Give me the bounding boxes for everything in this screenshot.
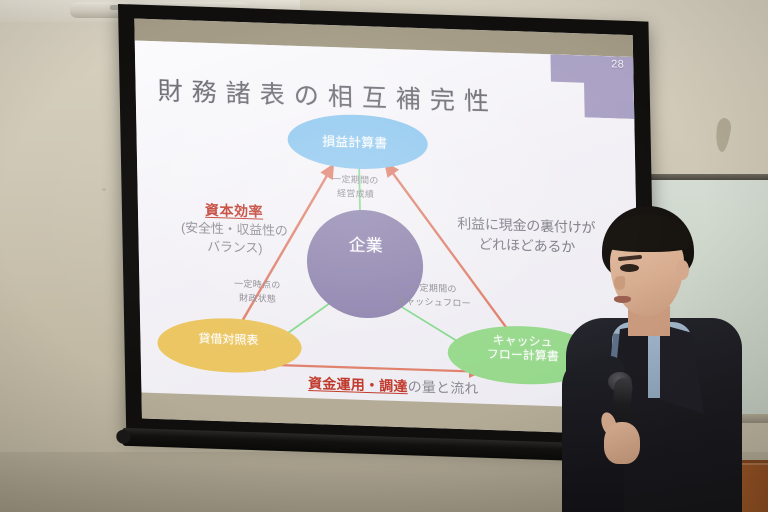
ear bbox=[676, 260, 689, 280]
screen-bar-end-cap bbox=[116, 430, 130, 444]
eye bbox=[620, 264, 639, 272]
lecture-room-photo: 28 財務諸表の相互補完性 bbox=[0, 0, 768, 512]
annotation-capital-efficiency: 資本効率 (安全性・収益性の バランス) bbox=[154, 199, 315, 259]
annotation-bottom-highlight: 資金運用・調達 bbox=[308, 375, 408, 394]
annotation-bottom-tail: の量と流れ bbox=[407, 378, 478, 396]
node-income-statement bbox=[287, 113, 428, 172]
presenter bbox=[556, 206, 742, 512]
edge-label-cash-flow-period: 一定期間の キャッシュフロー bbox=[369, 280, 498, 311]
edge-top-line-1: 一定期間の bbox=[332, 174, 379, 186]
whiteboard-top-rail bbox=[650, 174, 768, 180]
nose bbox=[614, 276, 625, 290]
edge-left-line-2: 財政状態 bbox=[239, 292, 276, 303]
edge-left-line-1: 一定時点の bbox=[234, 279, 281, 291]
edge-label-operating-results: 一定期間の 経営成績 bbox=[298, 172, 413, 203]
edge-label-financial-position: 一定時点の 財政状態 bbox=[205, 277, 310, 307]
hand bbox=[604, 422, 640, 464]
slide-number: 28 bbox=[611, 58, 624, 70]
edge-right-line-1: 一定期間の bbox=[410, 282, 457, 294]
wall-spot bbox=[102, 188, 106, 191]
edge-right-line-2: キャッシュフロー bbox=[396, 296, 471, 308]
arrow-bs-to-cf bbox=[253, 364, 481, 372]
node-balance-sheet bbox=[157, 316, 302, 375]
mouth bbox=[614, 296, 631, 303]
edge-top-line-2: 経営成績 bbox=[337, 188, 374, 199]
